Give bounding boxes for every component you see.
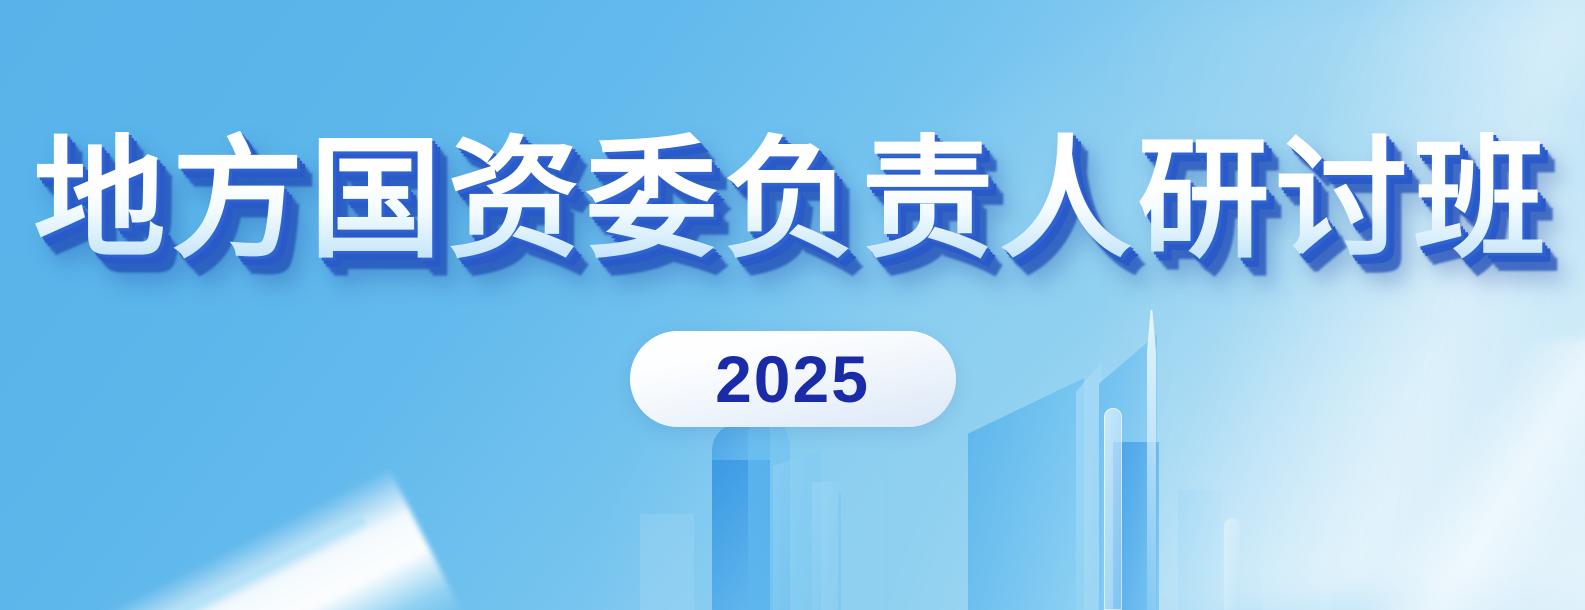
year-badge-label: 2025 (715, 346, 870, 412)
seminar-banner: 地方国资委负责人研讨班 2025 (0, 0, 1585, 610)
banner-content: 地方国资委负责人研讨班 2025 (0, 0, 1585, 610)
year-badge: 2025 (630, 331, 956, 427)
banner-title: 地方国资委负责人研讨班 (34, 131, 1552, 271)
